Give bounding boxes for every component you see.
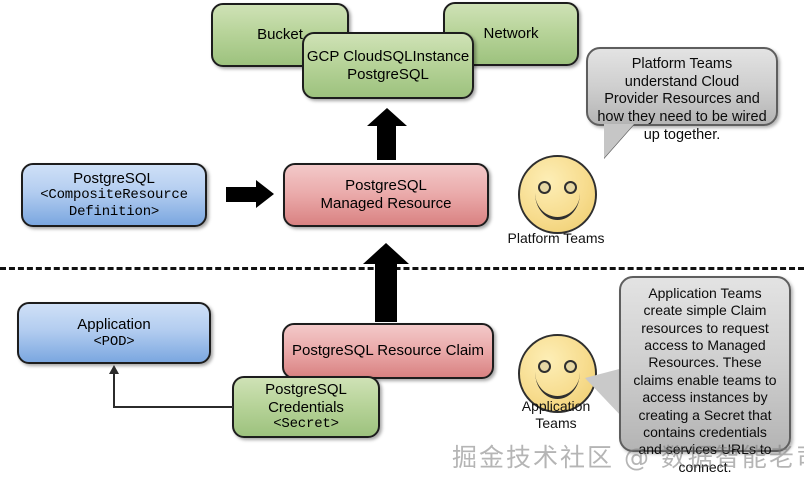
- node-application-line1: Application: [77, 316, 150, 334]
- arrow-shaft: [375, 262, 397, 322]
- smiley-mouth-icon: [535, 193, 580, 220]
- arrow-shaft: [226, 187, 258, 202]
- arrow-shaft: [377, 124, 396, 160]
- divider-dashed-line: [0, 267, 804, 270]
- node-managed-resource: PostgreSQL Managed Resource: [283, 163, 489, 227]
- arrow-head: [256, 180, 274, 208]
- connector-credentials-to-application-horizontal: [113, 406, 233, 408]
- node-network-label: Network: [483, 25, 538, 43]
- node-gcp-instance-line2: PostgreSQL: [347, 66, 429, 84]
- callout-application-teams: Application Teams create simple Claim re…: [619, 276, 791, 452]
- connector-credentials-to-application-vertical: [113, 374, 115, 408]
- arrow-head: [367, 108, 407, 126]
- watermark-text: 掘金技术社区 @ 数据智能老司机: [452, 438, 804, 474]
- node-resource-claim-label: PostgreSQL Resource Claim: [292, 342, 484, 360]
- node-postgresql-resource-claim: PostgreSQL Resource Claim: [282, 323, 494, 379]
- node-application-line2: <POD>: [93, 334, 134, 351]
- connector-credentials-to-application-arrowhead: [109, 365, 119, 374]
- node-composite-resource-definition: PostgreSQL <CompositeResource Definition…: [21, 163, 207, 227]
- smiley-face-platform-teams: [518, 155, 597, 234]
- persona-application-line1: Application: [522, 398, 591, 414]
- persona-label-platform-teams: Platform Teams: [490, 230, 622, 247]
- node-postgresql-credentials-secret: PostgreSQL Credentials <Secret>: [232, 376, 380, 438]
- smiley-mouth-icon: [535, 372, 580, 399]
- node-managed-resource-line1: PostgreSQL: [345, 177, 427, 195]
- node-xrd-line2: <CompositeResource: [40, 187, 188, 204]
- node-credentials-line2: Credentials: [268, 399, 344, 417]
- callout-platform-teams: Platform Teams understand Cloud Provider…: [586, 47, 778, 126]
- node-credentials-line1: PostgreSQL: [265, 381, 347, 399]
- persona-platform-label: Platform Teams: [508, 230, 605, 246]
- diagram-canvas: Bucket Network GCP CloudSQLInstance Post…: [0, 0, 804, 479]
- node-xrd-line1: PostgreSQL: [73, 170, 155, 188]
- callout-application-tail-icon: [585, 368, 623, 418]
- node-managed-resource-line2: Managed Resource: [321, 195, 452, 213]
- node-bucket-label: Bucket: [257, 26, 303, 44]
- node-xrd-line3: Definition>: [69, 204, 159, 221]
- node-gcp-instance-line1: GCP CloudSQLInstance: [307, 48, 469, 66]
- node-application-pod: Application <POD>: [17, 302, 211, 364]
- callout-platform-tail-icon: [604, 124, 634, 158]
- node-gcp-cloudsql-instance: GCP CloudSQLInstance PostgreSQL: [302, 32, 474, 99]
- persona-application-line2: Teams: [535, 415, 576, 431]
- arrow-head: [363, 243, 409, 264]
- node-credentials-line3: <Secret>: [273, 416, 339, 433]
